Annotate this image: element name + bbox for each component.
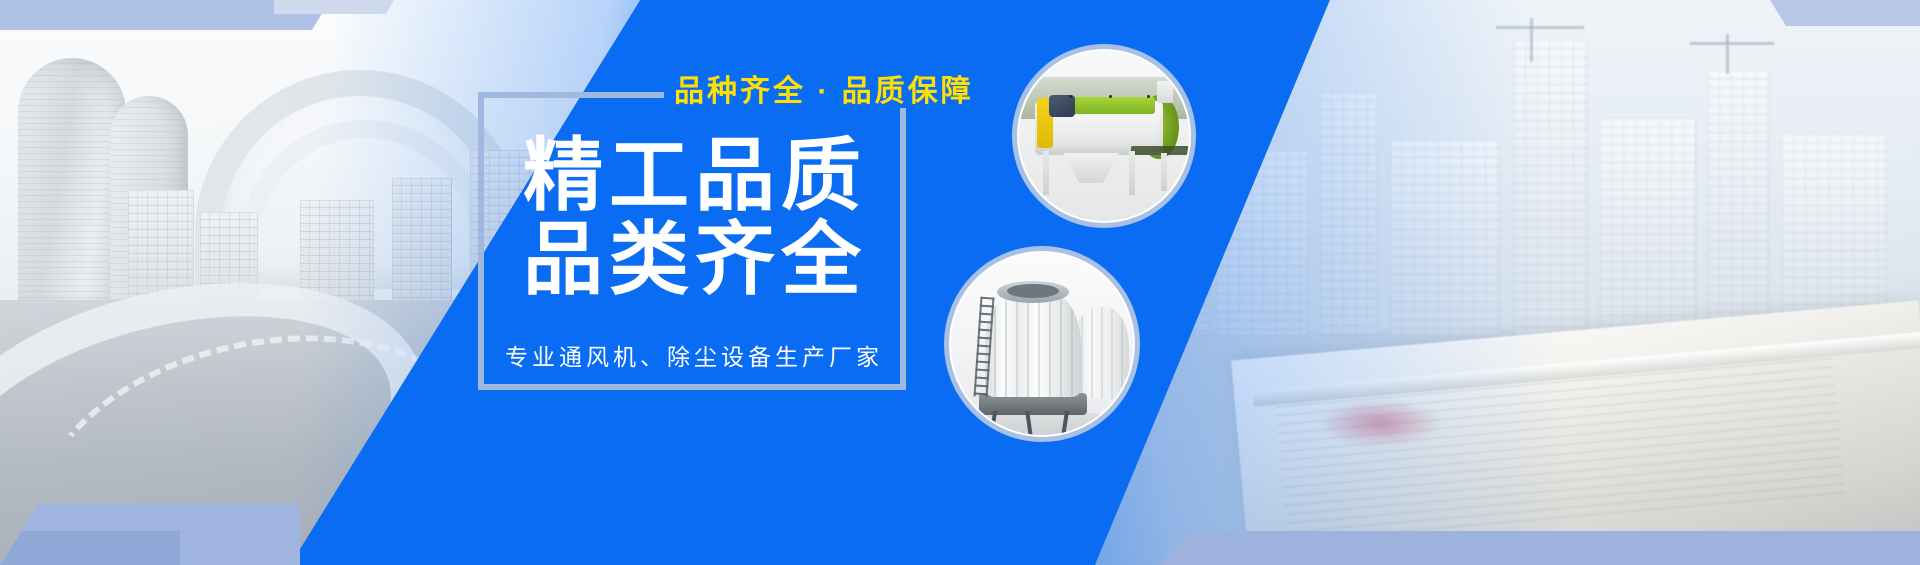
corner-wedge-top-right — [1770, 0, 1920, 26]
machine-bolt — [1069, 95, 1072, 98]
frame-border-bottom — [478, 384, 906, 390]
machine-motor-icon — [1049, 95, 1075, 117]
product-circle-bottom — [951, 253, 1133, 435]
machine-leg — [1161, 153, 1167, 191]
product-circle-top — [1019, 51, 1189, 221]
machine-leg — [1129, 151, 1135, 195]
machine-label-strip — [1131, 146, 1189, 155]
machine-leg — [1043, 151, 1049, 195]
corner-wedge-top-accent — [274, 0, 394, 14]
machine-green-panel-icon — [1071, 97, 1155, 114]
headline-line-1: 精工品质 — [478, 134, 906, 218]
cooling-tower-floor — [951, 413, 1133, 435]
promo-banner: 品种齐全 · 品质保障 精工品质 品类齐全 专业通风机、除尘设备生产厂家 — [0, 0, 1920, 565]
cooling-tower-fan-icon — [1007, 284, 1059, 298]
machine-spout-icon — [1157, 81, 1173, 103]
headline-block: 品种齐全 · 品质保障 精工品质 品类齐全 专业通风机、除尘设备生产厂家 — [478, 92, 906, 390]
machine-bolt — [1147, 95, 1150, 98]
page-title: 精工品质 品类齐全 — [478, 134, 906, 302]
tagline: 品种齐全 · 品质保障 — [664, 76, 984, 108]
cooling-tower-ribs — [985, 291, 1081, 397]
headline-line-2: 品类齐全 — [478, 218, 906, 302]
cooling-tower-body-icon — [985, 291, 1081, 397]
cooling-tower-ribs — [1073, 307, 1129, 399]
machine-bolt — [1109, 95, 1112, 98]
subtitle: 专业通风机、除尘设备生产厂家 — [478, 338, 906, 372]
cooling-tower-secondary-icon — [1073, 307, 1129, 399]
corner-wedge-bottom-left-accent — [0, 531, 180, 565]
frame-border-top-left — [478, 92, 666, 98]
corner-wedge-bottom-right — [1160, 531, 1920, 565]
